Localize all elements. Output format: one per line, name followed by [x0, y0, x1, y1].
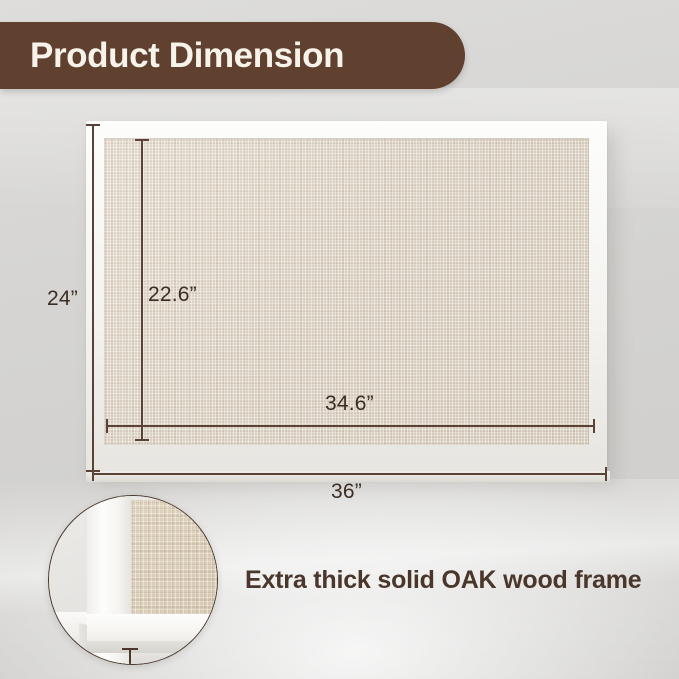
dimension-cap-right [593, 419, 595, 433]
dimension-cap-left [106, 419, 108, 433]
dimension-label-inner-width: 34.6” [325, 392, 374, 416]
dimension-label-inner-height: 22.6” [148, 283, 197, 307]
dimension-label-outer-height: 24” [47, 287, 78, 311]
dimension-cap-bottom [135, 439, 149, 441]
frame-thickness-magnifier: 0.7” [48, 495, 218, 665]
header-banner: Product Dimension [0, 22, 465, 89]
dimension-line-inner-width [106, 425, 595, 427]
dimension-cap-right [605, 467, 607, 481]
dimension-cap-top [86, 124, 100, 126]
dimension-line-outer-width [92, 473, 607, 475]
page-title: Product Dimension [30, 36, 344, 76]
magnifier-linen-patch [131, 500, 218, 622]
dimension-line-outer-height [92, 124, 94, 472]
dimension-label-outer-width: 36” [331, 480, 362, 504]
magnifier-frame-bottom-depth [84, 641, 218, 653]
thickness-bracket-line [129, 648, 131, 665]
dimension-line-inner-height [141, 139, 143, 441]
dimension-cap-top [135, 139, 149, 141]
frame-caption: Extra thick solid OAK wood frame [245, 566, 641, 595]
magnifier-frame-bottom-rail [87, 614, 218, 644]
dimension-cap-left [92, 467, 94, 481]
